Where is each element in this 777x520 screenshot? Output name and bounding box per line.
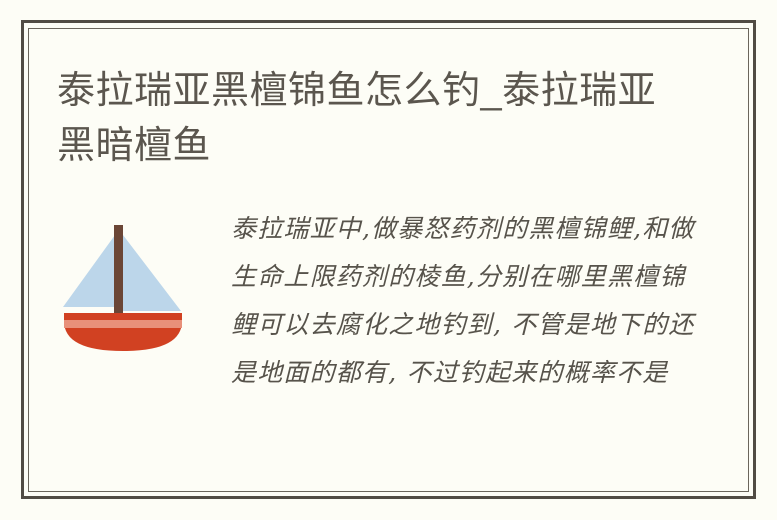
article-page: 泰拉瑞亚黑檀锦鱼怎么钓_泰拉瑞亚黑暗檀鱼 泰拉瑞亚中,做暴怒药剂的黑檀锦鲤,和做… <box>0 0 777 520</box>
article-body: 泰拉瑞亚中,做暴怒药剂的黑檀锦鲤,和做生命上限药剂的棱鱼,分别在哪里黑檀锦鲤可以… <box>207 205 697 397</box>
article-illustration <box>57 205 207 353</box>
article-content: 泰拉瑞亚中,做暴怒药剂的黑檀锦鲤,和做生命上限药剂的棱鱼,分别在哪里黑檀锦鲤可以… <box>57 205 697 397</box>
page-title: 泰拉瑞亚黑檀锦鱼怎么钓_泰拉瑞亚黑暗檀鱼 <box>57 64 667 174</box>
sailboat-icon <box>57 217 189 353</box>
